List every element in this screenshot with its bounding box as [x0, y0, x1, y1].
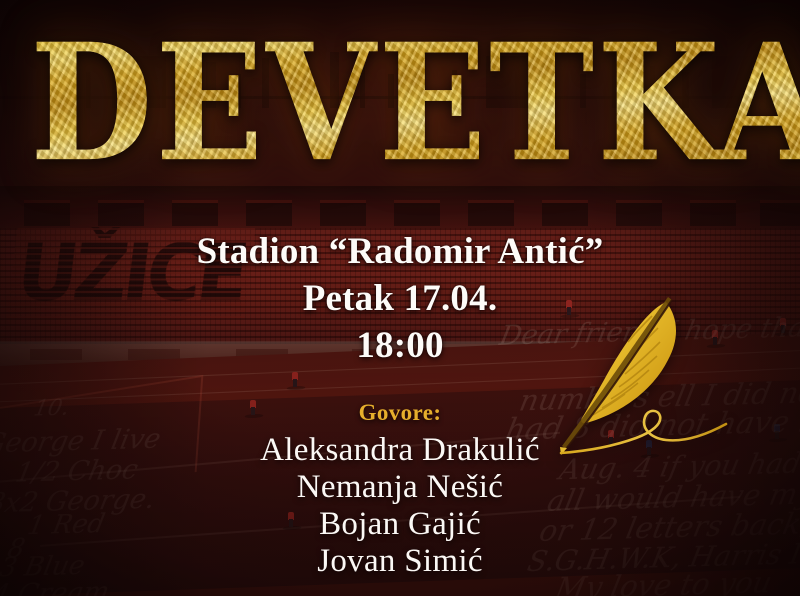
event-details: Stadion “Radomir Antić” Petak 17.04. 18:… [0, 228, 800, 369]
title-container: DEVETKA [0, 28, 800, 178]
event-time: 18:00 [0, 322, 800, 369]
speaker-name: Jovan Simić [0, 544, 800, 578]
venue-name: Stadion “Radomir Antić” [0, 228, 800, 275]
speakers-section: Govore: Aleksandra Drakulić Nemanja Neši… [0, 398, 800, 578]
event-date: Petak 17.04. [0, 275, 800, 322]
poster-content: DEVETKA Stadion “Radomir Antić” Petak 17… [0, 0, 800, 596]
poster-title: DEVETKA [30, 24, 800, 183]
speaker-name: Bojan Gajić [0, 507, 800, 541]
speaker-name: Nemanja Nešić [0, 470, 800, 504]
speaker-name: Aleksandra Drakulić [0, 433, 800, 467]
event-poster: UŽICE Dear friend I hope that I numbers … [0, 0, 800, 596]
speakers-list: Aleksandra Drakulić Nemanja Nešić Bojan … [0, 433, 800, 578]
speakers-label: Govore: [0, 398, 800, 427]
